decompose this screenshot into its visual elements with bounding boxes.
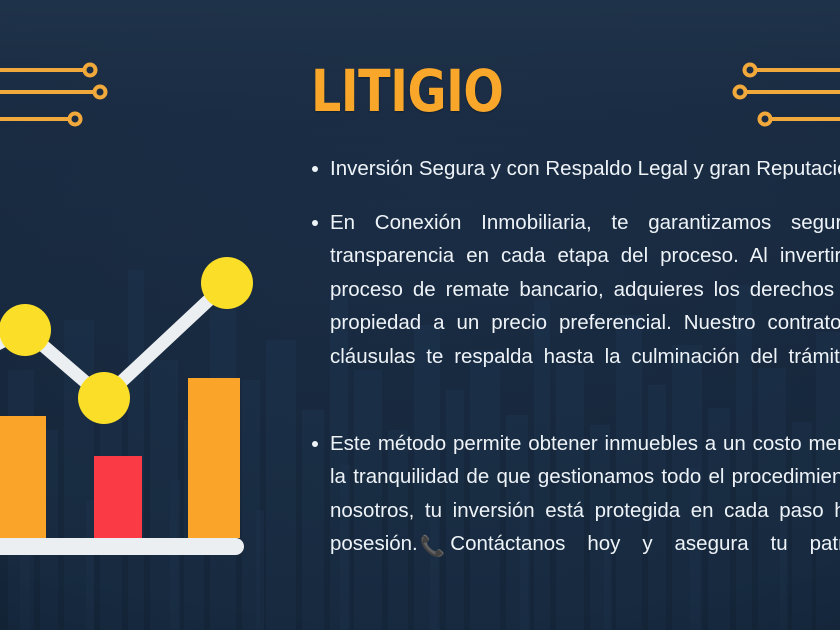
list-item: Este método permite obtener inmuebles a … (311, 427, 840, 598)
bullet-dot-icon (312, 166, 318, 172)
bullet-3-line-4b: Contáctanos hoy y asegura tu patrimonio. (450, 532, 840, 555)
bullet-3-line-4a: posesión. (330, 532, 418, 555)
bullet-dot-icon (312, 441, 318, 447)
slide-canvas: LITIGIO Inversión Segura y con Respaldo … (0, 0, 840, 630)
bullet-3-text: Este método permite obtener inmuebles a … (330, 427, 840, 598)
chart-baseline (0, 538, 244, 555)
growth-chart-graphic (0, 238, 284, 568)
bullet-dot-icon (312, 220, 318, 226)
list-item: En Conexión Inmobiliaria, te garantizamo… (311, 206, 840, 407)
circuit-decoration-left (0, 52, 142, 138)
bullet-3-line-3: nosotros, tu inversión está protegida en… (330, 499, 840, 522)
chart-bar-2 (94, 456, 142, 538)
telephone-receiver-icon: 📞 (420, 530, 446, 564)
bullet-2-line-1: En Conexión Inmobiliaria, te garantizamo… (330, 211, 840, 234)
chart-bar-3 (188, 378, 240, 538)
body-content: Inversión Segura y con Respaldo Legal y … (311, 152, 840, 597)
bullet-1-text: Inversión Segura y con Respaldo Legal y … (330, 152, 840, 186)
circuit-decoration-right (698, 52, 840, 138)
list-item: Inversión Segura y con Respaldo Legal y … (311, 152, 840, 186)
chart-bar-1 (0, 416, 46, 538)
bullet-2-line-5: respalda hasta la culminación del trámit… (454, 345, 840, 368)
bullet-3-line-1: Este método permite obtener inmuebles a … (330, 432, 840, 455)
bullet-2-text: En Conexión Inmobiliaria, te garantizamo… (330, 206, 840, 407)
page-title: LITIGIO (311, 62, 503, 120)
bullet-3-line-2: la tranquilidad de que gestionamos todo … (330, 465, 840, 488)
